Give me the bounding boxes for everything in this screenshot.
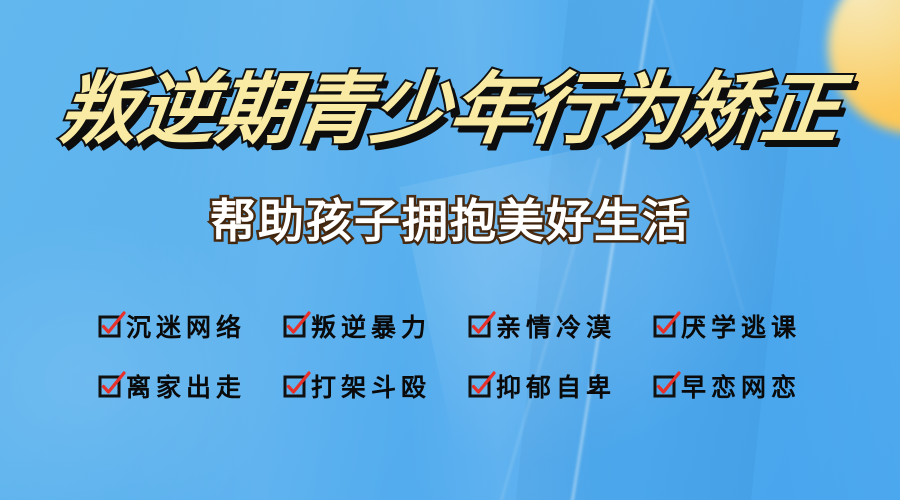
feature-tag[interactable]: 打架斗殴	[278, 368, 437, 404]
feature-tag-label: 厌学逃课	[681, 308, 801, 344]
feature-tag-label: 沉迷网络	[126, 308, 246, 344]
checkbox-checked-icon	[469, 375, 491, 397]
feature-tag-row: 沉迷网络 叛逆暴力 亲情冷漠	[0, 296, 900, 356]
checkbox-checked-icon	[654, 315, 676, 337]
page-title: 叛逆期青少年行为矫正	[0, 70, 900, 148]
page-subtitle: 帮助孩子拥抱美好生活	[0, 198, 900, 244]
checkbox-checked-icon	[469, 315, 491, 337]
feature-tag[interactable]: 叛逆暴力	[278, 308, 437, 344]
feature-tag-list: 沉迷网络 叛逆暴力 亲情冷漠	[0, 296, 900, 416]
feature-tag[interactable]: 沉迷网络	[93, 308, 252, 344]
feature-tag[interactable]: 厌学逃课	[648, 308, 807, 344]
feature-tag-label: 打架斗殴	[311, 368, 431, 404]
feature-tag[interactable]: 亲情冷漠	[463, 308, 622, 344]
feature-tag-row: 离家出走 打架斗殴 抑郁自卑	[0, 356, 900, 416]
checkbox-checked-icon	[284, 375, 306, 397]
banner-content: 叛逆期青少年行为矫正 帮助孩子拥抱美好生活 沉迷网络 叛逆暴力	[0, 0, 900, 500]
feature-tag[interactable]: 早恋网恋	[648, 368, 807, 404]
promo-banner: 叛逆期青少年行为矫正 帮助孩子拥抱美好生活 沉迷网络 叛逆暴力	[0, 0, 900, 500]
checkbox-checked-icon	[284, 315, 306, 337]
checkbox-checked-icon	[99, 315, 121, 337]
feature-tag-label: 叛逆暴力	[311, 308, 431, 344]
feature-tag[interactable]: 离家出走	[93, 368, 252, 404]
feature-tag-label: 抑郁自卑	[496, 368, 616, 404]
checkbox-checked-icon	[654, 375, 676, 397]
feature-tag[interactable]: 抑郁自卑	[463, 368, 622, 404]
feature-tag-label: 离家出走	[126, 368, 246, 404]
feature-tag-label: 亲情冷漠	[496, 308, 616, 344]
checkbox-checked-icon	[99, 375, 121, 397]
feature-tag-label: 早恋网恋	[681, 368, 801, 404]
